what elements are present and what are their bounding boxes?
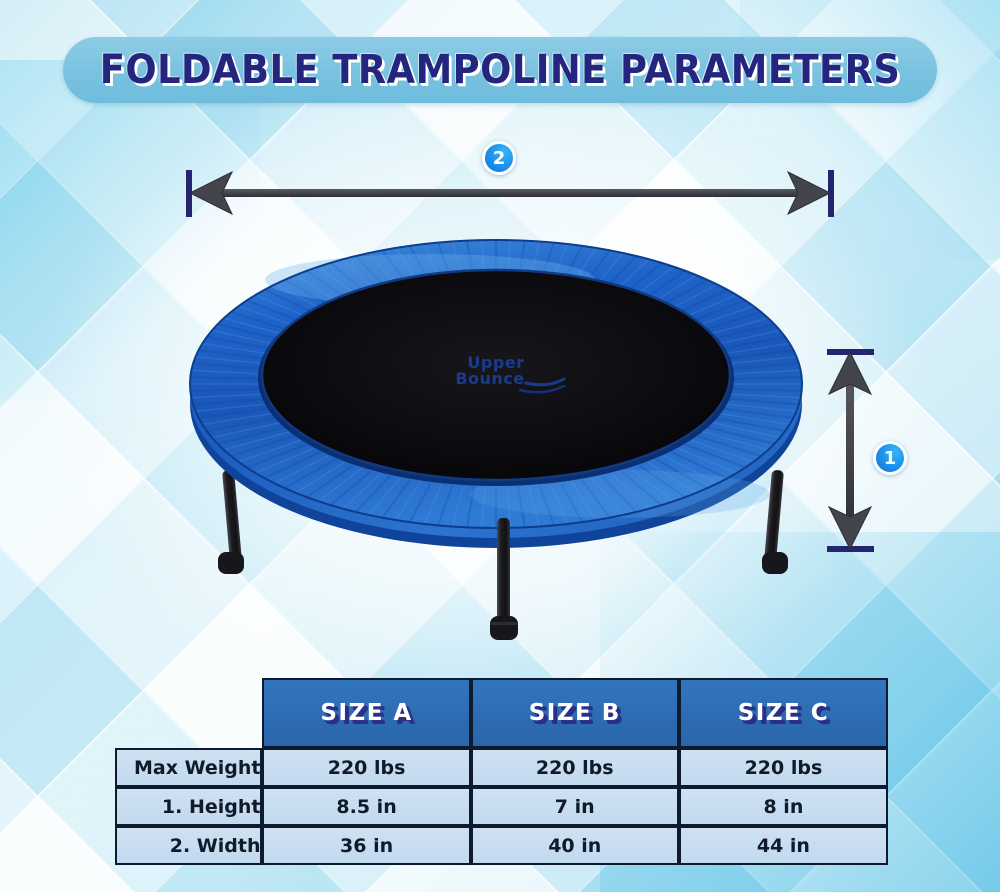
table-header-row: SIZE A SIZE B SIZE C xyxy=(115,678,888,748)
cell-width-size-b: 40 in xyxy=(471,826,679,865)
height-dimension-arrow xyxy=(827,349,874,552)
column-header-size-b-label: SIZE B xyxy=(529,700,621,726)
column-header-size-c-label: SIZE C xyxy=(738,700,829,726)
cell-height-size-b: 7 in xyxy=(471,787,679,826)
page-title: FOLDABLE TRAMPOLINE PARAMETERS xyxy=(100,47,901,93)
cell-height-size-a: 8.5 in xyxy=(262,787,470,826)
row-label-width: 2. Width xyxy=(115,826,262,865)
width-dimension-arrow xyxy=(186,170,834,217)
cell-max-weight-size-a: 220 lbs xyxy=(262,748,470,787)
column-header-size-b: SIZE B xyxy=(471,678,679,748)
brand-logo-line2: Bounce xyxy=(455,369,524,388)
trampoline-product-image: Upper Bounce xyxy=(180,232,820,652)
cell-max-weight-size-c: 220 lbs xyxy=(679,748,888,787)
table-row: Max Weight 220 lbs 220 lbs 220 lbs xyxy=(115,748,888,787)
table-corner-cell xyxy=(115,678,262,748)
column-header-size-c: SIZE C xyxy=(679,678,888,748)
row-label-height: 1. Height xyxy=(115,787,262,826)
column-header-size-a-label: SIZE A xyxy=(320,700,412,726)
page-title-banner: FOLDABLE TRAMPOLINE PARAMETERS xyxy=(63,37,937,103)
cell-width-size-c: 44 in xyxy=(679,826,888,865)
callout-badge-height: 1 xyxy=(873,441,907,475)
column-header-size-a: SIZE A xyxy=(262,678,470,748)
cell-height-size-c: 8 in xyxy=(679,787,888,826)
cell-max-weight-size-b: 220 lbs xyxy=(471,748,679,787)
table-row: 1. Height 8.5 in 7 in 8 in xyxy=(115,787,888,826)
table-row: 2. Width 36 in 40 in 44 in xyxy=(115,826,888,865)
infographic-page: FOLDABLE TRAMPOLINE PARAMETERS xyxy=(0,0,1000,892)
cell-width-size-a: 36 in xyxy=(262,826,470,865)
callout-badge-width: 2 xyxy=(482,141,516,175)
specs-table: SIZE A SIZE B SIZE C Max Weight 220 lbs … xyxy=(115,678,888,865)
row-label-max-weight: Max Weight xyxy=(115,748,262,787)
